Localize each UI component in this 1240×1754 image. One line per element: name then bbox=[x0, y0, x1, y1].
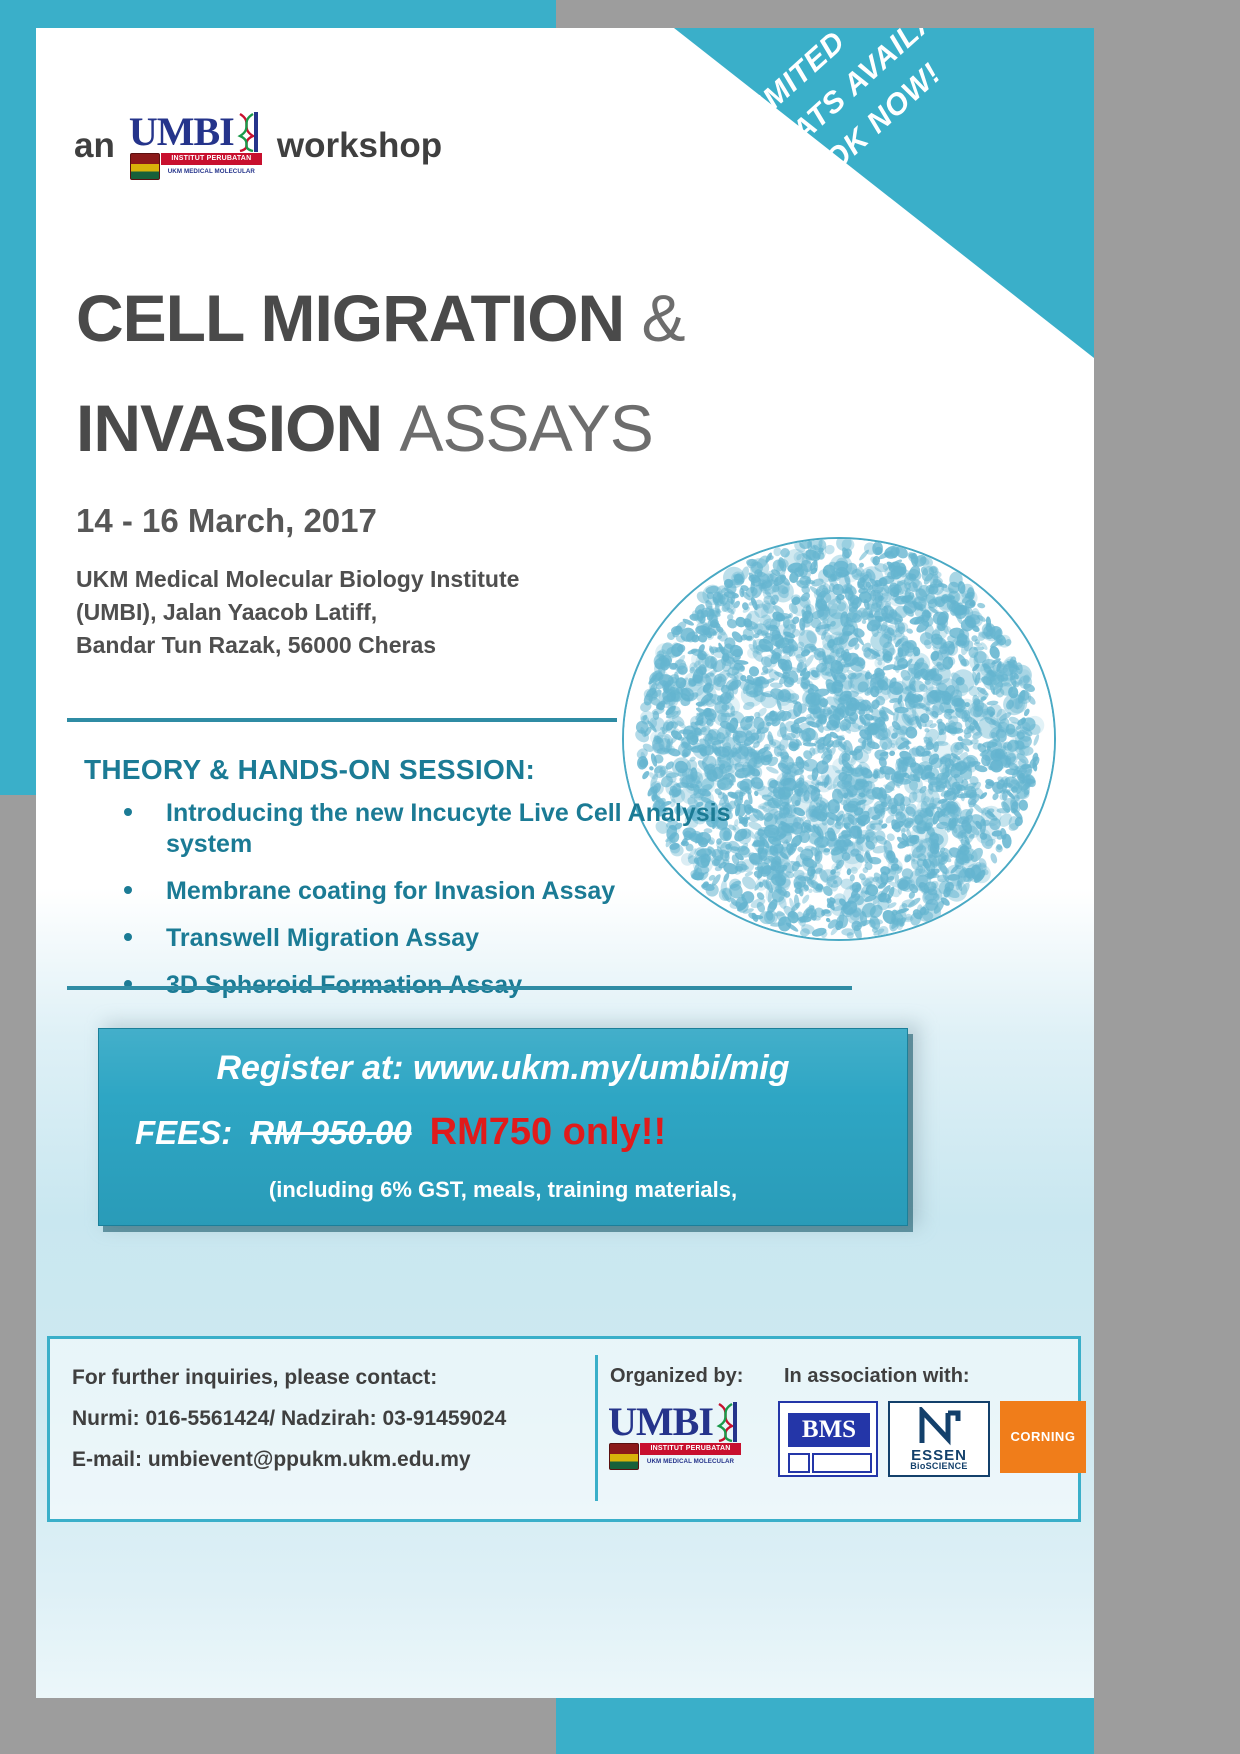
session-item-label: 3D Spheroid Formation Assay bbox=[166, 971, 522, 999]
title-line2-light: ASSAYS bbox=[400, 391, 653, 465]
venue-line-1: UKM Medical Molecular Biology Institute bbox=[76, 563, 519, 596]
bms-logo-label: BMS bbox=[788, 1413, 870, 1447]
venue-line-3: Bandar Tun Razak, 56000 Cheras bbox=[76, 629, 519, 662]
footer-dna-helix-icon bbox=[714, 1402, 738, 1442]
fees-row: FEES: RM 950.00 RM750 only!! bbox=[135, 1111, 895, 1154]
session-heading: THEORY & HANDS-ON SESSION: bbox=[84, 754, 535, 786]
contact-line-2: Nurmi: 016-5561424/ Nadzirah: 03-9145902… bbox=[72, 1398, 592, 1439]
ribbon-triangle bbox=[674, 28, 1094, 358]
essen-bioscience-logo-icon: ESSEN BioSCIENCE bbox=[888, 1401, 990, 1477]
session-item-label: Introducing the new Incucyte Live Cell A… bbox=[166, 799, 730, 858]
corning-logo-label: CORNING bbox=[1000, 1429, 1086, 1444]
ukm-crest-icon bbox=[130, 153, 160, 180]
list-item: Transwell Migration Assay bbox=[84, 923, 784, 954]
bms-logo-icon: BMS bbox=[778, 1401, 878, 1477]
umbi-sub-text: UKM MEDICAL MOLECULAR BIOLOGY INSTITUTE bbox=[161, 166, 262, 177]
bms-logo-block-right bbox=[812, 1453, 872, 1473]
title-line1-light: & bbox=[642, 281, 685, 355]
poster-page: LIMITED SEATS AVAILABLE! BOOK NOW! an UM… bbox=[36, 28, 1094, 1698]
register-url[interactable]: Register at: www.ukm.my/umbi/mig bbox=[99, 1049, 907, 1088]
divider-bottom bbox=[67, 986, 852, 990]
venue-line-2: (UMBI), Jalan Yaacob Latiff, bbox=[76, 596, 519, 629]
corning-logo-icon: CORNING bbox=[1000, 1401, 1086, 1473]
title-line2-bold: INVASION bbox=[76, 391, 382, 465]
list-item: Introducing the new Incucyte Live Cell A… bbox=[84, 798, 784, 860]
footer-umbi-bar-text: INSTITUT PERUBATAN MOLEKUL UKM bbox=[640, 1443, 741, 1455]
page-title-line-2: INVASION ASSAYS bbox=[76, 390, 653, 466]
ribbon-line-1: LIMITED bbox=[732, 28, 1059, 139]
limited-seats-ribbon: LIMITED SEATS AVAILABLE! BOOK NOW! bbox=[674, 28, 1094, 358]
bullet-icon bbox=[124, 933, 132, 941]
organized-by-label: Organized by: bbox=[610, 1365, 743, 1388]
fees-label: FEES: bbox=[135, 1114, 232, 1152]
footer-umbi-logo-icon: UMBI INSTITUT PERUBATAN MOLEKUL UKM UKM … bbox=[608, 1403, 742, 1469]
divider-top bbox=[67, 718, 617, 722]
bms-logo-block-left bbox=[788, 1453, 810, 1473]
page-title-line-1: CELL MIGRATION & bbox=[76, 280, 685, 356]
background-gray-left bbox=[0, 795, 36, 1754]
workshop-header: an UMBI INSTITUT PERUBATAN MOLEKUL UKM U… bbox=[74, 113, 442, 179]
fees-original-price: RM 950.00 bbox=[250, 1114, 411, 1152]
ribbon-text: LIMITED SEATS AVAILABLE! BOOK NOW! bbox=[732, 28, 1094, 204]
event-venue: UKM Medical Molecular Biology Institute … bbox=[76, 563, 519, 662]
title-line1-bold: CELL MIGRATION bbox=[76, 281, 624, 355]
fees-discount-price: RM750 only!! bbox=[430, 1111, 666, 1154]
footer-panel: For further inquiries, please contact: N… bbox=[47, 1336, 1081, 1522]
ribbon-line-2: SEATS AVAILABLE! bbox=[751, 28, 1088, 181]
poster-root: LIMITED SEATS AVAILABLE! BOOK NOW! an UM… bbox=[0, 0, 1240, 1754]
in-association-with-label: In association with: bbox=[784, 1365, 970, 1388]
fees-inclusions: (including 6% GST, meals, training mater… bbox=[99, 1177, 907, 1203]
session-list: Introducing the new Incucyte Live Cell A… bbox=[84, 798, 784, 1017]
footer-ukm-crest-icon bbox=[609, 1443, 639, 1470]
event-date: 14 - 16 March, 2017 bbox=[76, 502, 377, 540]
contact-email[interactable]: E-mail: umbievent@ppukm.ukm.edu.my bbox=[72, 1439, 592, 1480]
header-prefix: an bbox=[74, 126, 115, 166]
header-suffix: workshop bbox=[277, 126, 442, 166]
bullet-icon bbox=[124, 886, 132, 894]
list-item: Membrane coating for Invasion Assay bbox=[84, 876, 784, 907]
register-box[interactable]: Register at: www.ukm.my/umbi/mig FEES: R… bbox=[98, 1028, 908, 1226]
ribbon-line-3: BOOK NOW! bbox=[780, 28, 1094, 213]
umbi-logo-icon: UMBI INSTITUT PERUBATAN MOLEKUL UKM UKM … bbox=[129, 113, 263, 179]
essen-logo-label-bottom: BioSCIENCE bbox=[890, 1461, 988, 1471]
footer-umbi-sub-text: UKM MEDICAL MOLECULAR BIOLOGY INSTITUTE bbox=[640, 1456, 741, 1467]
session-item-label: Membrane coating for Invasion Assay bbox=[166, 877, 615, 905]
footer-divider bbox=[595, 1355, 598, 1501]
bullet-icon bbox=[124, 808, 132, 816]
dna-helix-icon bbox=[235, 112, 259, 152]
background-gray-right bbox=[1094, 0, 1240, 1754]
contact-block: For further inquiries, please contact: N… bbox=[72, 1357, 592, 1480]
umbi-bar-text: INSTITUT PERUBATAN MOLEKUL UKM bbox=[161, 153, 262, 165]
essen-mark-icon bbox=[918, 1407, 962, 1447]
session-item-label: Transwell Migration Assay bbox=[166, 924, 479, 952]
contact-line-1: For further inquiries, please contact: bbox=[72, 1357, 592, 1398]
